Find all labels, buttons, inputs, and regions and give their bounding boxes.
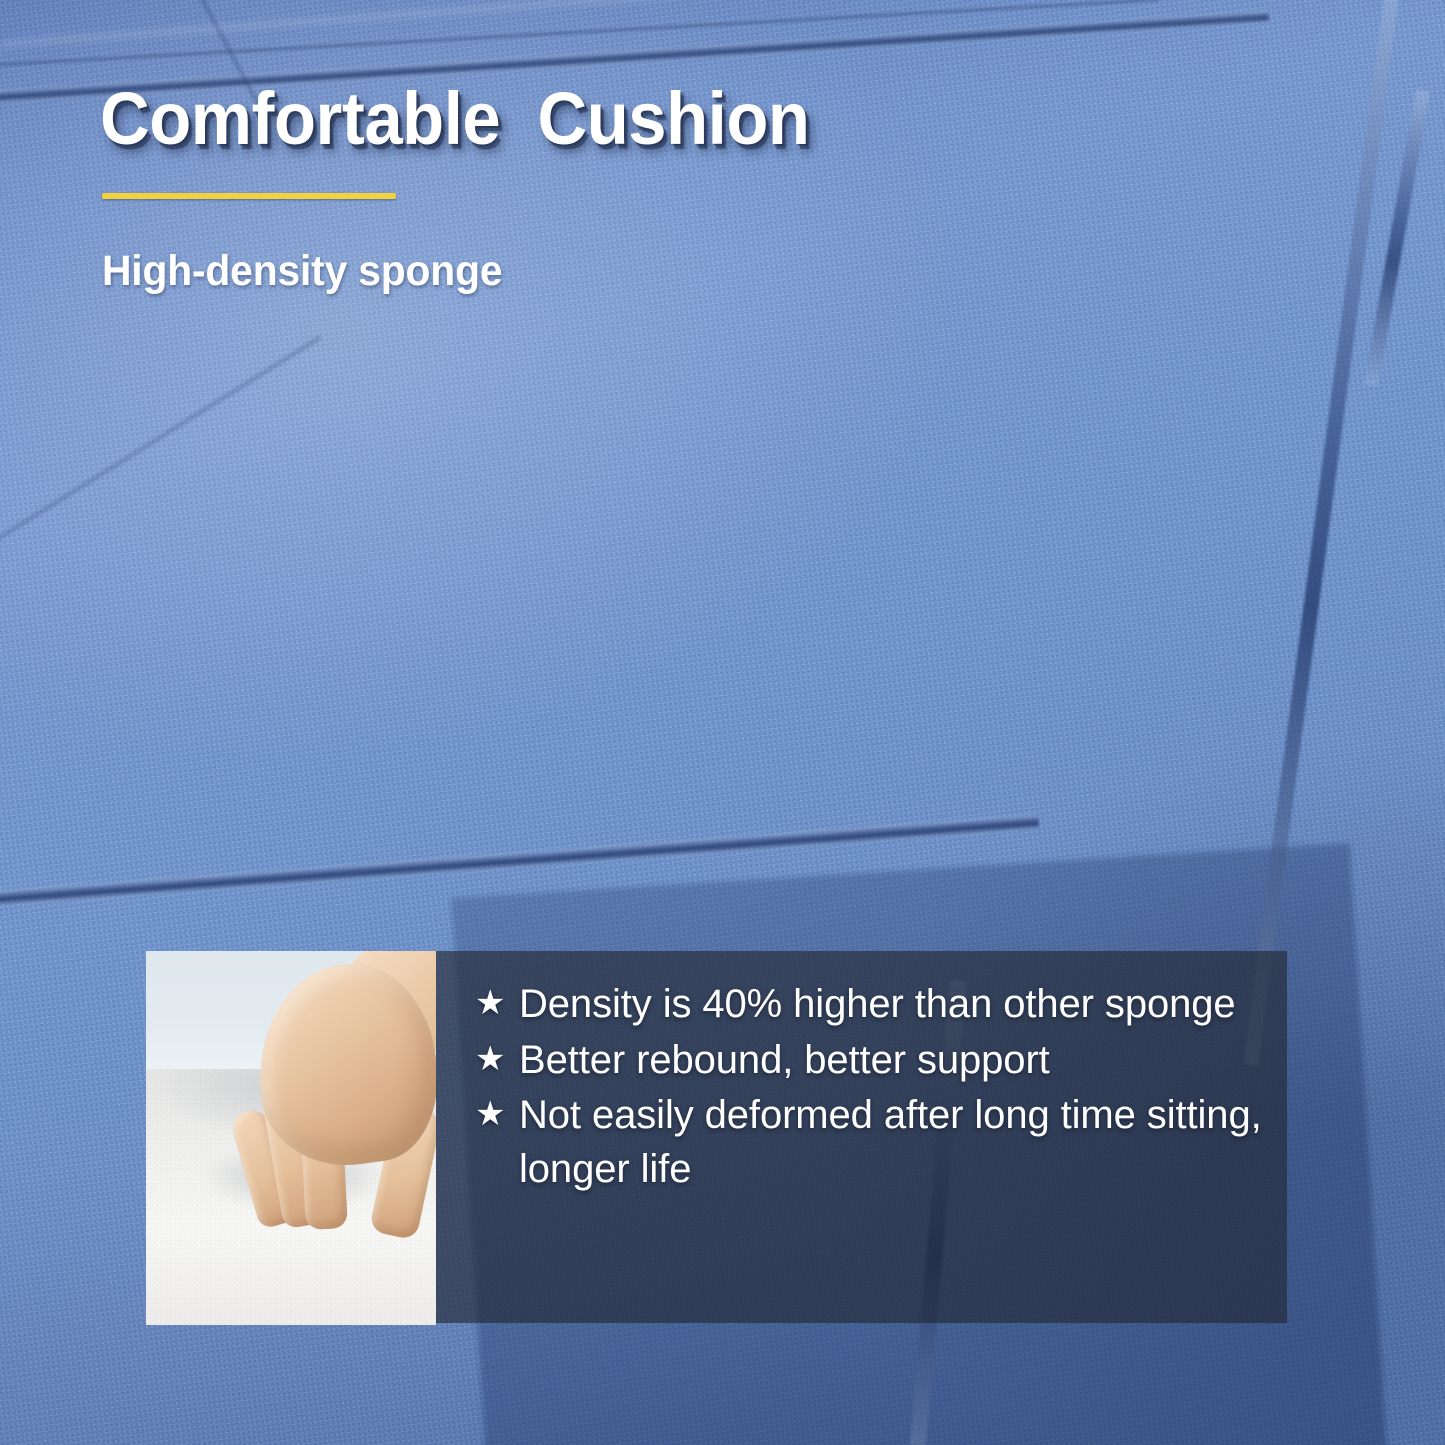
title-underline-rule: [102, 193, 396, 199]
inset-photo-hand-pressing-foam: [146, 951, 436, 1325]
star-icon: ★: [475, 978, 519, 1030]
star-icon: ★: [475, 1089, 519, 1141]
list-item: ★ Not easily deformed after long time si…: [475, 1089, 1265, 1196]
list-item-label: Not easily deformed after long time sitt…: [519, 1089, 1265, 1196]
page-title: Comfortable Cushion: [100, 76, 809, 161]
page-subtitle: High-density sponge: [102, 247, 502, 296]
star-icon: ★: [475, 1034, 519, 1086]
list-item-label: Density is 40% higher than other sponge: [519, 978, 1265, 1032]
list-item: ★ Better rebound, better support: [475, 1034, 1265, 1088]
list-item: ★ Density is 40% higher than other spong…: [475, 978, 1265, 1032]
feature-bullet-list: ★ Density is 40% higher than other spong…: [475, 978, 1265, 1198]
hand-icon: [206, 959, 436, 1229]
product-feature-image: Comfortable Cushion High-density sponge …: [0, 0, 1445, 1445]
list-item-label: Better rebound, better support: [519, 1034, 1265, 1088]
